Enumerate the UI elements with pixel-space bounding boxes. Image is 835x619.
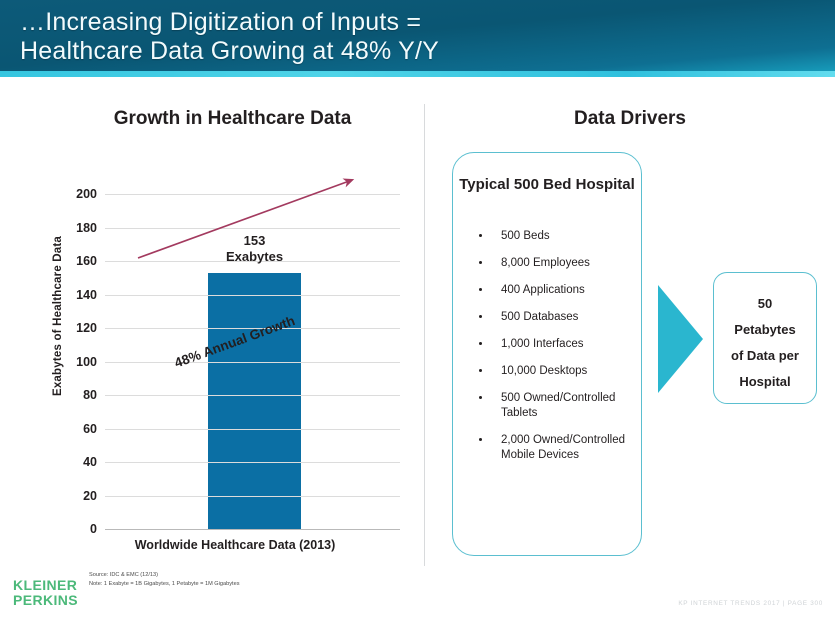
- bullet-dot-icon: [479, 315, 482, 318]
- drivers-panel-title: Data Drivers: [470, 108, 790, 130]
- hospital-stat-label: 10,000 Desktops: [501, 365, 587, 377]
- logo-line-1: KLEINER: [13, 578, 78, 593]
- deck-footer-label: KP INTERNET TRENDS 2017 | PAGE 300: [678, 600, 823, 607]
- healthcare-data-bar-chart: Exabytes of Healthcare Data 200180160140…: [35, 160, 410, 560]
- chart-y-tick-label: 20: [83, 489, 97, 503]
- bullet-dot-icon: [479, 288, 482, 291]
- hospital-stat-item: 500 Beds: [471, 229, 636, 244]
- bullet-dot-icon: [479, 438, 482, 441]
- chart-gridline: [105, 496, 400, 497]
- chart-panel-title: Growth in Healthcare Data: [60, 108, 405, 130]
- chart-y-tick-label: 180: [76, 221, 97, 235]
- slide-title-line-1: …Increasing Digitization of Inputs =: [20, 8, 720, 37]
- output-summary-card: 50Petabytesof Data perHospital: [713, 272, 817, 404]
- chart-y-tick-label: 140: [76, 288, 97, 302]
- hospital-stat-label: 400 Applications: [501, 284, 585, 296]
- hospital-stats-list: 500 Beds8,000 Employees400 Applications5…: [471, 229, 636, 475]
- hospital-stat-label: 2,000 Owned/Controlled Mobile Devices: [501, 434, 625, 461]
- hospital-stat-item: 500 Owned/Controlled Tablets: [471, 391, 636, 421]
- hospital-stat-label: 500 Owned/Controlled Tablets: [501, 392, 615, 419]
- chart-y-tick-label: 40: [83, 455, 97, 469]
- chart-y-tick-label: 200: [76, 187, 97, 201]
- chart-y-tick-label: 160: [76, 254, 97, 268]
- chart-x-axis-label: Worldwide Healthcare Data (2013): [75, 538, 395, 552]
- chart-gridline: [105, 295, 400, 296]
- source-note: Source: IDC & EMC (12/13) Note: 1 Exabyt…: [89, 571, 389, 588]
- slide-title: …Increasing Digitization of Inputs = Hea…: [20, 8, 720, 66]
- bar-value-number: 153: [195, 233, 315, 249]
- hospital-stat-label: 500 Databases: [501, 311, 578, 323]
- right-arrow-icon: [658, 285, 703, 393]
- hospital-card-heading: Typical 500 Bed Hospital: [453, 175, 641, 195]
- chart-gridline: [105, 462, 400, 463]
- hospital-stat-label: 500 Beds: [501, 230, 550, 242]
- output-summary-line: of Data per: [714, 343, 816, 369]
- bullet-dot-icon: [479, 369, 482, 372]
- panel-divider: [424, 104, 425, 566]
- hospital-stat-label: 1,000 Interfaces: [501, 338, 583, 350]
- logo-line-2: PERKINS: [13, 593, 78, 608]
- hospital-stat-item: 400 Applications: [471, 283, 636, 298]
- slide-title-bar: …Increasing Digitization of Inputs = Hea…: [0, 0, 835, 77]
- chart-y-axis-label: Exabytes of Healthcare Data: [52, 201, 64, 431]
- chart-y-tick-label: 0: [90, 522, 97, 536]
- chart-gridline: [105, 429, 400, 430]
- bullet-dot-icon: [479, 342, 482, 345]
- hospital-stat-item: 500 Databases: [471, 310, 636, 325]
- chart-gridline: [105, 194, 400, 195]
- source-line-1: Source: IDC & EMC (12/13): [89, 571, 389, 580]
- source-line-2: Note: 1 Exabyte = 1B Gigabytes, 1 Petaby…: [89, 580, 389, 589]
- hospital-stat-label: 8,000 Employees: [501, 257, 590, 269]
- bullet-dot-icon: [479, 234, 482, 237]
- bar-worldwide-healthcare-data-2013: [208, 273, 301, 529]
- hospital-stat-item: 10,000 Desktops: [471, 364, 636, 379]
- hospital-stat-item: 1,000 Interfaces: [471, 337, 636, 352]
- chart-gridline: [105, 228, 400, 229]
- chart-y-tick-label: 100: [76, 355, 97, 369]
- chart-y-tick-label: 80: [83, 388, 97, 402]
- bullet-dot-icon: [479, 396, 482, 399]
- output-summary-line: Hospital: [714, 369, 816, 395]
- bar-value-label: 153 Exabytes: [195, 233, 315, 265]
- hospital-stat-item: 2,000 Owned/Controlled Mobile Devices: [471, 433, 636, 463]
- chart-gridline: [105, 529, 400, 530]
- typical-hospital-card: Typical 500 Bed Hospital 500 Beds8,000 E…: [452, 152, 642, 556]
- hospital-stat-item: 8,000 Employees: [471, 256, 636, 271]
- chart-y-tick-label: 120: [76, 321, 97, 335]
- title-accent-bar: [0, 71, 835, 77]
- kleiner-perkins-logo: KLEINER PERKINS: [13, 578, 78, 608]
- output-summary-line: Petabytes: [714, 317, 816, 343]
- chart-gridline: [105, 362, 400, 363]
- output-summary-text: 50Petabytesof Data perHospital: [714, 291, 816, 395]
- bullet-dot-icon: [479, 261, 482, 264]
- bar-value-unit: Exabytes: [195, 249, 315, 265]
- chart-gridline: [105, 395, 400, 396]
- output-summary-line: 50: [714, 291, 816, 317]
- chart-y-tick-label: 60: [83, 422, 97, 436]
- slide-title-line-2: Healthcare Data Growing at 48% Y/Y: [20, 37, 720, 66]
